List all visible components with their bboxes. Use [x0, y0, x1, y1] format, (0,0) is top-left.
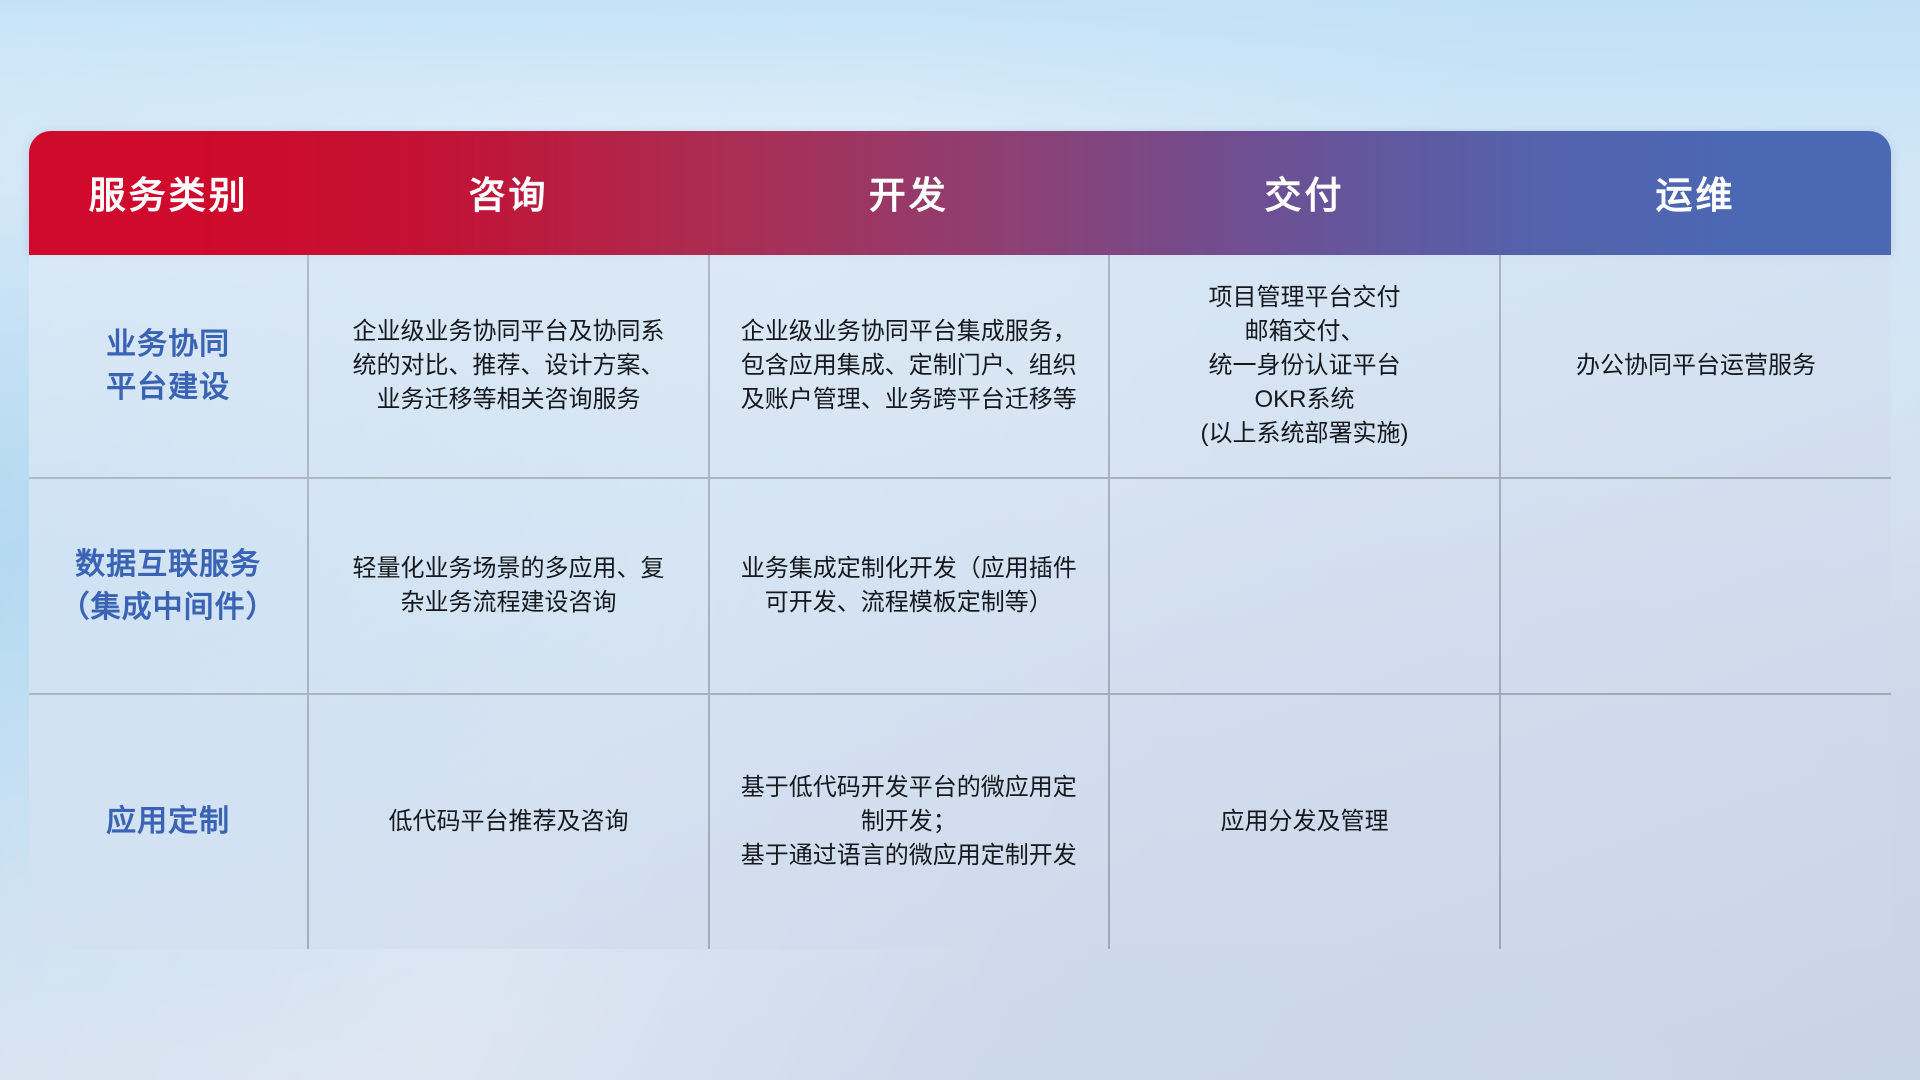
row-label-text: 业务协同 平台建设 — [45, 323, 291, 409]
cell-consulting-row1: 企业级业务协同平台及协同系 统的对比、推荐、设计方案、 业务迁移等相关咨询服务 — [308, 255, 708, 478]
cell-consulting-row3: 低代码平台推荐及咨询 — [308, 694, 708, 949]
cell-text: 企业级业务协同平台集成服务， 包含应用集成、定制门户、组织 及账户管理、业务跨平… — [726, 315, 1092, 417]
row-label-app-customization: 应用定制 — [29, 694, 308, 949]
column-header-development-label: 开发 — [709, 165, 1109, 221]
column-header-category: 服务类别 — [29, 131, 308, 255]
cell-text: 办公协同平台运营服务 — [1517, 349, 1875, 383]
cell-text: 企业级业务协同平台及协同系 统的对比、推荐、设计方案、 业务迁移等相关咨询服务 — [325, 315, 691, 417]
cell-text: 低代码平台推荐及咨询 — [325, 805, 691, 839]
column-header-delivery-label: 交付 — [1109, 165, 1500, 221]
column-header-operations-label: 运维 — [1500, 165, 1891, 221]
row-label-business-collaboration: 业务协同 平台建设 — [29, 255, 308, 478]
table-head: 服务类别 咨询 开发 交付 运维 — [29, 131, 1891, 255]
table-row: 应用定制 低代码平台推荐及咨询 基于低代码开发平台的微应用定 制开发； 基于通过… — [29, 694, 1891, 949]
cell-operations-row2 — [1500, 478, 1891, 694]
cell-delivery-row1: 项目管理平台交付 邮箱交付、 统一身份认证平台 OKR系统 (以上系统部署实施) — [1109, 255, 1500, 478]
column-header-delivery: 交付 — [1109, 131, 1500, 255]
table-row: 业务协同 平台建设 企业级业务协同平台及协同系 统的对比、推荐、设计方案、 业务… — [29, 255, 1891, 478]
cell-development-row3: 基于低代码开发平台的微应用定 制开发； 基于通过语言的微应用定制开发 — [709, 694, 1109, 949]
cell-text: 业务集成定制化开发（应用插件 可开发、流程模板定制等） — [726, 552, 1092, 620]
row-label-text: 应用定制 — [45, 800, 291, 843]
column-header-consulting-label: 咨询 — [308, 165, 708, 221]
column-header-operations: 运维 — [1500, 131, 1891, 255]
service-table: 服务类别 咨询 开发 交付 运维 业务协同 平台建设 — [29, 131, 1891, 949]
cell-consulting-row2: 轻量化业务场景的多应用、复 杂业务流程建设咨询 — [308, 478, 708, 694]
column-header-consulting: 咨询 — [308, 131, 708, 255]
cell-text: 基于低代码开发平台的微应用定 制开发； 基于通过语言的微应用定制开发 — [726, 771, 1092, 873]
cell-operations-row1: 办公协同平台运营服务 — [1500, 255, 1891, 478]
row-label-data-interconnect: 数据互联服务 （集成中间件） — [29, 478, 308, 694]
cell-text: 项目管理平台交付 邮箱交付、 统一身份认证平台 OKR系统 (以上系统部署实施) — [1126, 281, 1483, 451]
column-header-development: 开发 — [709, 131, 1109, 255]
table-row: 数据互联服务 （集成中间件） 轻量化业务场景的多应用、复 杂业务流程建设咨询 业… — [29, 478, 1891, 694]
table-body: 业务协同 平台建设 企业级业务协同平台及协同系 统的对比、推荐、设计方案、 业务… — [29, 255, 1891, 949]
cell-development-row2: 业务集成定制化开发（应用插件 可开发、流程模板定制等） — [709, 478, 1109, 694]
cell-text: 应用分发及管理 — [1126, 805, 1483, 839]
cell-delivery-row2 — [1109, 478, 1500, 694]
row-label-text: 数据互联服务 （集成中间件） — [45, 543, 291, 629]
cell-operations-row3 — [1500, 694, 1891, 949]
cell-text: 轻量化业务场景的多应用、复 杂业务流程建设咨询 — [325, 552, 691, 620]
cell-development-row1: 企业级业务协同平台集成服务， 包含应用集成、定制门户、组织 及账户管理、业务跨平… — [709, 255, 1109, 478]
cell-delivery-row3: 应用分发及管理 — [1109, 694, 1500, 949]
header-row: 服务类别 咨询 开发 交付 运维 — [29, 131, 1891, 255]
column-header-category-label: 服务类别 — [29, 165, 308, 221]
service-matrix-table: 服务类别 咨询 开发 交付 运维 业务协同 平台建设 — [29, 131, 1891, 949]
